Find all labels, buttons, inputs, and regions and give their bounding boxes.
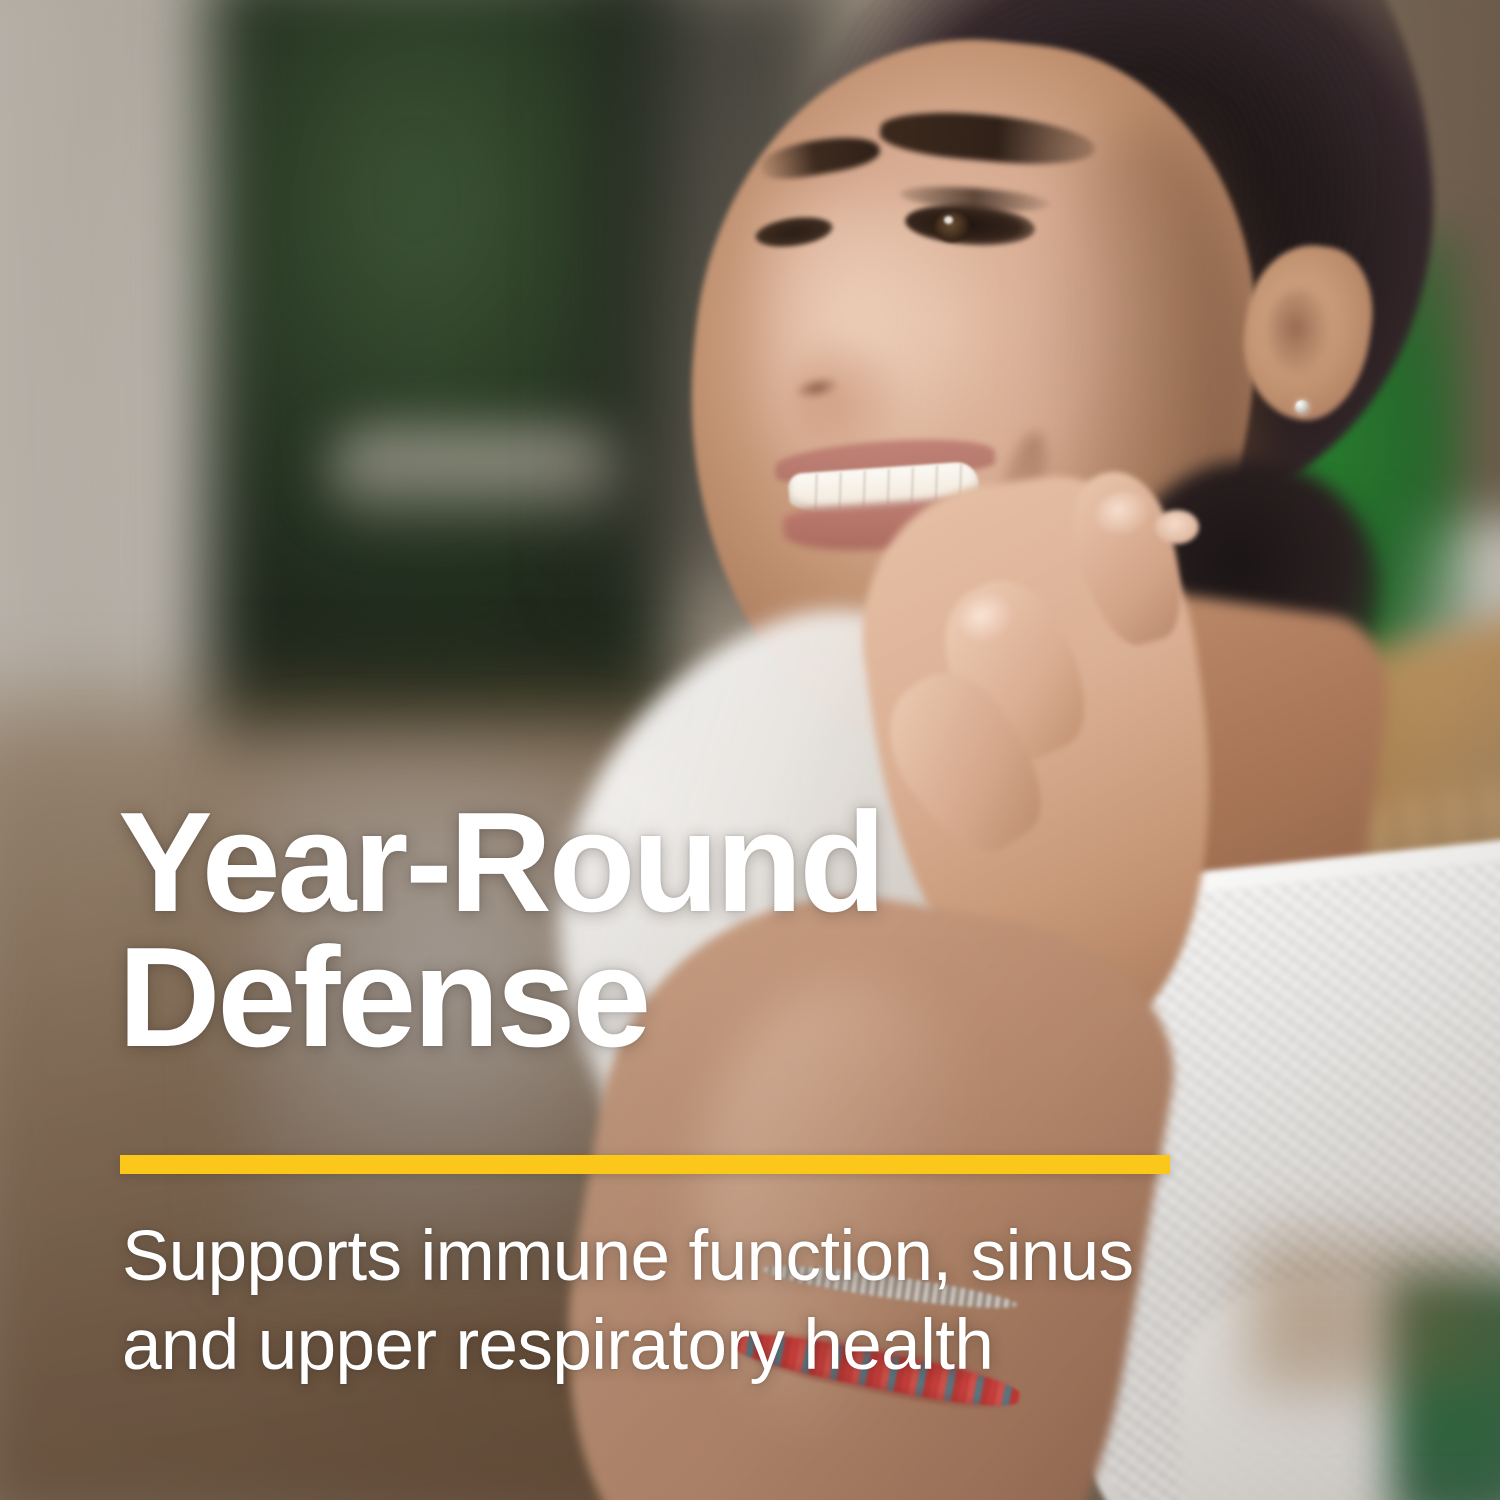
subheadline: Supports immune function, sinus and uppe… bbox=[122, 1212, 1302, 1391]
text-overlay: Year-Round Defense Supports immune funct… bbox=[0, 0, 1500, 1500]
accent-divider-rule bbox=[120, 1155, 1170, 1174]
promo-banner: Year-Round Defense Supports immune funct… bbox=[0, 0, 1500, 1500]
headline: Year-Round Defense bbox=[118, 796, 1118, 1066]
